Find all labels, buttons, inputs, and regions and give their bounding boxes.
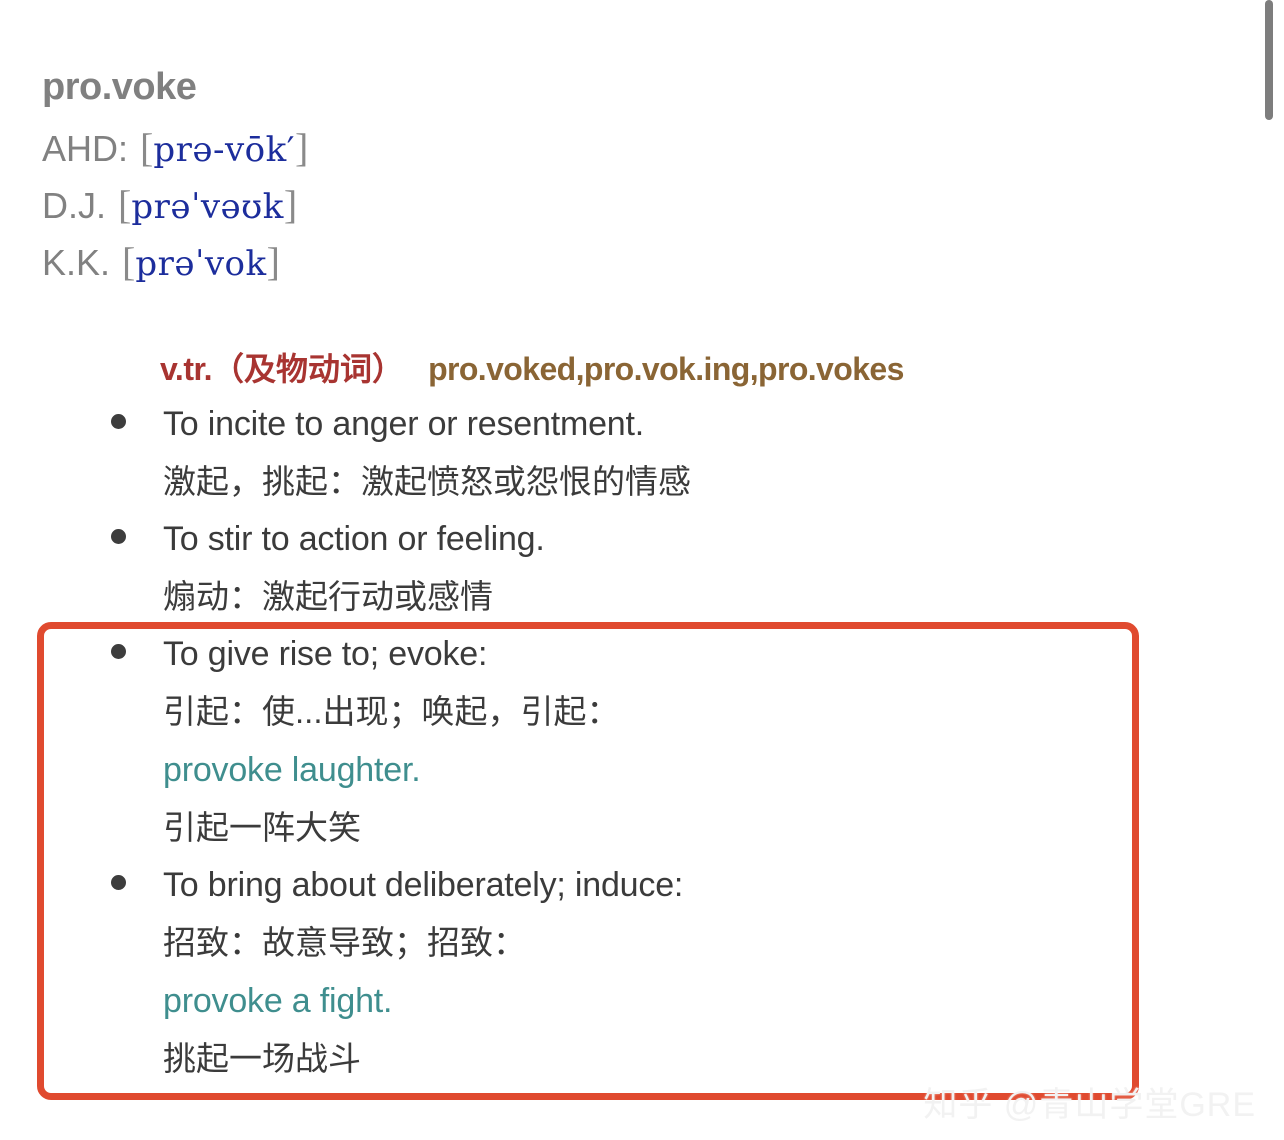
dictionary-entry-page: pro.voke AHD: [prə-vōk′] D.J. [prəˈvəʊk]…	[0, 0, 1284, 1140]
bullet-icon	[111, 875, 126, 890]
bullet-icon	[111, 644, 126, 659]
pronunciation-label-ahd: AHD:	[42, 128, 128, 170]
ipa-dj: prəˈvəʊk	[131, 187, 284, 227]
definition-english: To stir to action or feeling.	[163, 511, 1284, 568]
pronunciation-row-ahd: AHD: [prə-vōk′]	[42, 124, 942, 181]
headword: pro.voke	[42, 68, 196, 106]
watermark-text: 知乎 @青山学堂GRE	[923, 1086, 1256, 1124]
definition-chinese: 煽动：激起行动或感情	[163, 568, 1284, 626]
pronunciation-value-kk: [prəˈvok]	[122, 238, 280, 285]
definition-english: To incite to anger or resentment.	[163, 396, 1284, 453]
pronunciation-value-ahd: [prə-vōk′]	[140, 124, 308, 171]
definition-item: To give rise to; evoke: 引起：使...出现；唤起，引起：…	[0, 626, 1284, 857]
pronunciation-row-kk: K.K. [prəˈvok]	[42, 238, 942, 295]
ipa-ahd: prə-vōk′	[153, 130, 295, 170]
bullet-icon	[111, 529, 126, 544]
watermark: 知乎 @青山学堂GRE	[923, 1077, 1256, 1126]
part-of-speech-line: v.tr.（及物动词）pro.voked,pro.vok.ing,pro.vok…	[160, 344, 904, 390]
definition-english: To give rise to; evoke:	[163, 626, 1284, 683]
bracket-close: ]	[295, 125, 308, 170]
definition-example: provoke a fight.	[163, 972, 1284, 1030]
definition-chinese: 招致：故意导致；招致：	[163, 914, 1284, 972]
bracket-open: [	[118, 182, 131, 227]
bracket-close: ]	[267, 239, 280, 284]
bracket-open: [	[140, 125, 153, 170]
definition-list: To incite to anger or resentment. 激起，挑起：…	[0, 396, 1284, 1088]
definition-example: provoke laughter.	[163, 741, 1284, 799]
definition-chinese: 引起：使...出现；唤起，引起：	[163, 683, 1284, 741]
part-of-speech-chinese: （及物动词）	[212, 351, 404, 387]
pronunciation-value-dj: [prəˈvəʊk]	[118, 181, 297, 228]
definition-example-chinese: 引起一阵大笑	[163, 799, 1284, 857]
definition-item: To stir to action or feeling. 煽动：激起行动或感情	[0, 511, 1284, 626]
definition-item: To incite to anger or resentment. 激起，挑起：…	[0, 396, 1284, 511]
definition-item: To bring about deliberately; induce: 招致：…	[0, 857, 1284, 1088]
bracket-open: [	[122, 239, 135, 284]
inflections: pro.voked,pro.vok.ing,pro.vokes	[428, 351, 904, 387]
pronunciation-list: AHD: [prə-vōk′] D.J. [prəˈvəʊk] K.K. [pr…	[42, 124, 942, 295]
scrollbar-thumb[interactable]	[1265, 0, 1273, 120]
pronunciation-label-dj: D.J.	[42, 185, 106, 227]
definition-chinese: 激起，挑起：激起愤怒或怨恨的情感	[163, 453, 1284, 511]
part-of-speech-tag: v.tr.	[160, 351, 212, 387]
bullet-icon	[111, 414, 126, 429]
pronunciation-label-kk: K.K.	[42, 242, 110, 284]
ipa-kk: prəˈvok	[135, 244, 266, 284]
pronunciation-row-dj: D.J. [prəˈvəʊk]	[42, 181, 942, 238]
definition-english: To bring about deliberately; induce:	[163, 857, 1284, 914]
bracket-close: ]	[284, 182, 297, 227]
